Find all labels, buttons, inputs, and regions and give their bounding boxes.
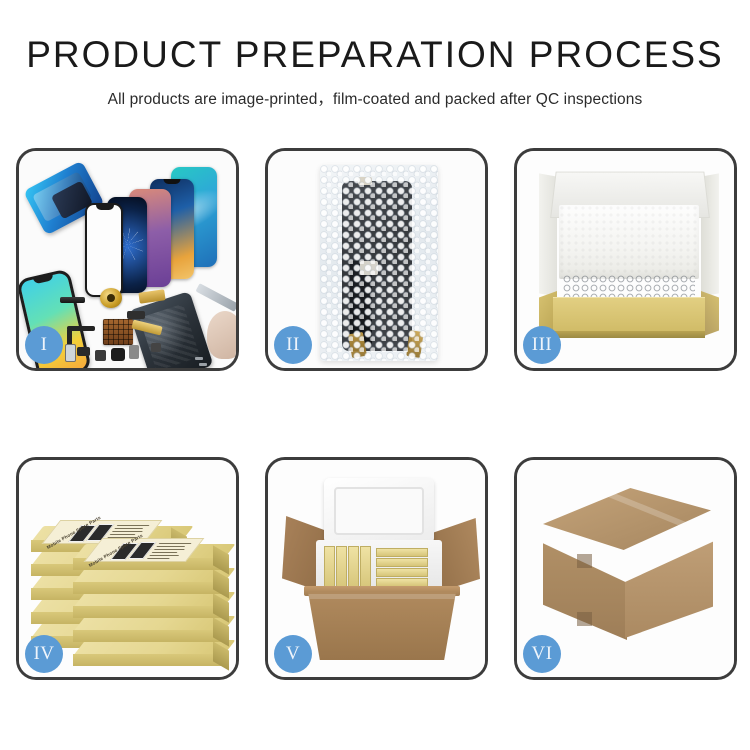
- process-step-3[interactable]: III: [514, 148, 737, 371]
- step-badge-4: IV: [25, 635, 63, 673]
- box-item: [73, 592, 223, 618]
- process-step-2[interactable]: II: [265, 148, 488, 371]
- component-chip-icon: [95, 350, 106, 361]
- process-grid: I II III: [16, 148, 738, 680]
- step-badge-3: III: [523, 326, 561, 364]
- camera-module-icon: [111, 348, 125, 361]
- process-step-1[interactable]: I: [16, 148, 239, 371]
- hand-icon: [207, 311, 236, 359]
- process-step-6[interactable]: VI: [514, 457, 737, 680]
- yellow-boxes-group-icon: [324, 546, 434, 590]
- box-item-labelled: Mobile Phone Spare Parts: [73, 544, 223, 570]
- ribbon-cable-icon: [67, 326, 95, 331]
- kraft-box-front-icon: [553, 297, 705, 338]
- styrofoam-lid-icon: [324, 478, 434, 544]
- bubble-wrap-package-icon: [320, 165, 438, 361]
- box-item: [73, 568, 223, 594]
- component-chip-icon: [77, 347, 90, 356]
- chip-grid-icon: [103, 319, 133, 345]
- speaker-coil-icon: [100, 288, 122, 308]
- antenna-bar-icon: [60, 297, 85, 303]
- process-step-4[interactable]: Mobile Phone Spare Parts: [16, 457, 239, 680]
- process-step-5[interactable]: V: [265, 457, 488, 680]
- carton-tape-lower-icon: [577, 612, 592, 626]
- page-header: PRODUCT PREPARATION PROCESS All products…: [0, 0, 750, 109]
- connector-icon: [127, 311, 145, 319]
- phone-glass-front-icon: [85, 203, 123, 297]
- component-chip-icon: [151, 343, 161, 352]
- page-subtitle: All products are image-printed，film-coat…: [0, 87, 750, 109]
- step-badge-5: V: [274, 635, 312, 673]
- sim-tray-icon: [65, 344, 76, 362]
- screws-icon: [195, 357, 213, 368]
- foam-sheet-icon: [559, 205, 699, 279]
- carton-body-icon: [308, 592, 456, 660]
- step-badge-1: I: [25, 326, 63, 364]
- tweezers-icon: [195, 283, 236, 312]
- box-item: [73, 616, 223, 642]
- box-item: [73, 640, 223, 666]
- step-badge-2: II: [274, 326, 312, 364]
- battery-cell-icon: [129, 345, 139, 359]
- page-title: PRODUCT PREPARATION PROCESS: [0, 36, 750, 75]
- step-badge-6: VI: [523, 635, 561, 673]
- bubble-texture-overlay-icon: [320, 165, 438, 361]
- carton-tape-upper-icon: [577, 554, 592, 568]
